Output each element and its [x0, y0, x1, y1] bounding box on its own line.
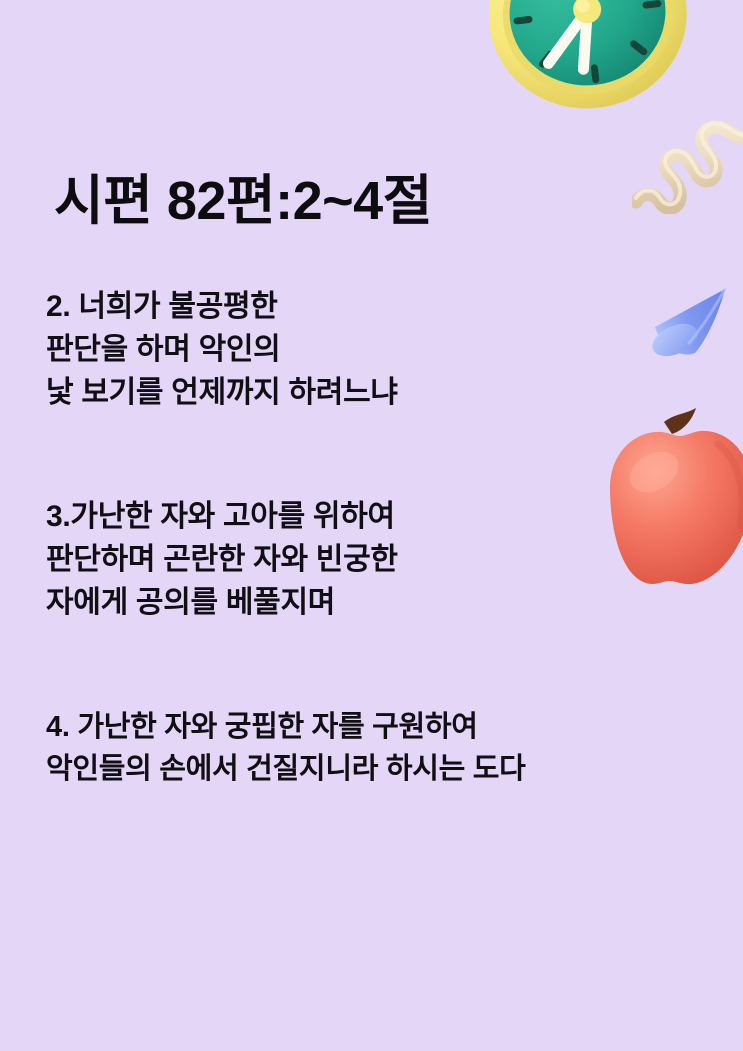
verse-text-3: 3.가난한 자와 고아를 위하여 판단하며 곤란한 자와 빈궁한 자에게 공의를… [46, 495, 398, 624]
verse-text-2: 2. 너희가 불공평한 판단을 하며 악인의 낯 보기를 언제까지 하려느냐 [46, 285, 398, 414]
page-title: 시편 82편:2~4절 [54, 170, 432, 232]
verse-text-4: 4. 가난한 자와 궁핍한 자를 구원하여 악인들의 손에서 건질지니라 하시는… [46, 706, 526, 790]
text-layer: 시편 82편:2~4절 2. 너희가 불공평한 판단을 하며 악인의 낯 보기를… [0, 0, 743, 1051]
poster-canvas: 시편 82편:2~4절 2. 너희가 불공평한 판단을 하며 악인의 낯 보기를… [0, 0, 743, 1051]
